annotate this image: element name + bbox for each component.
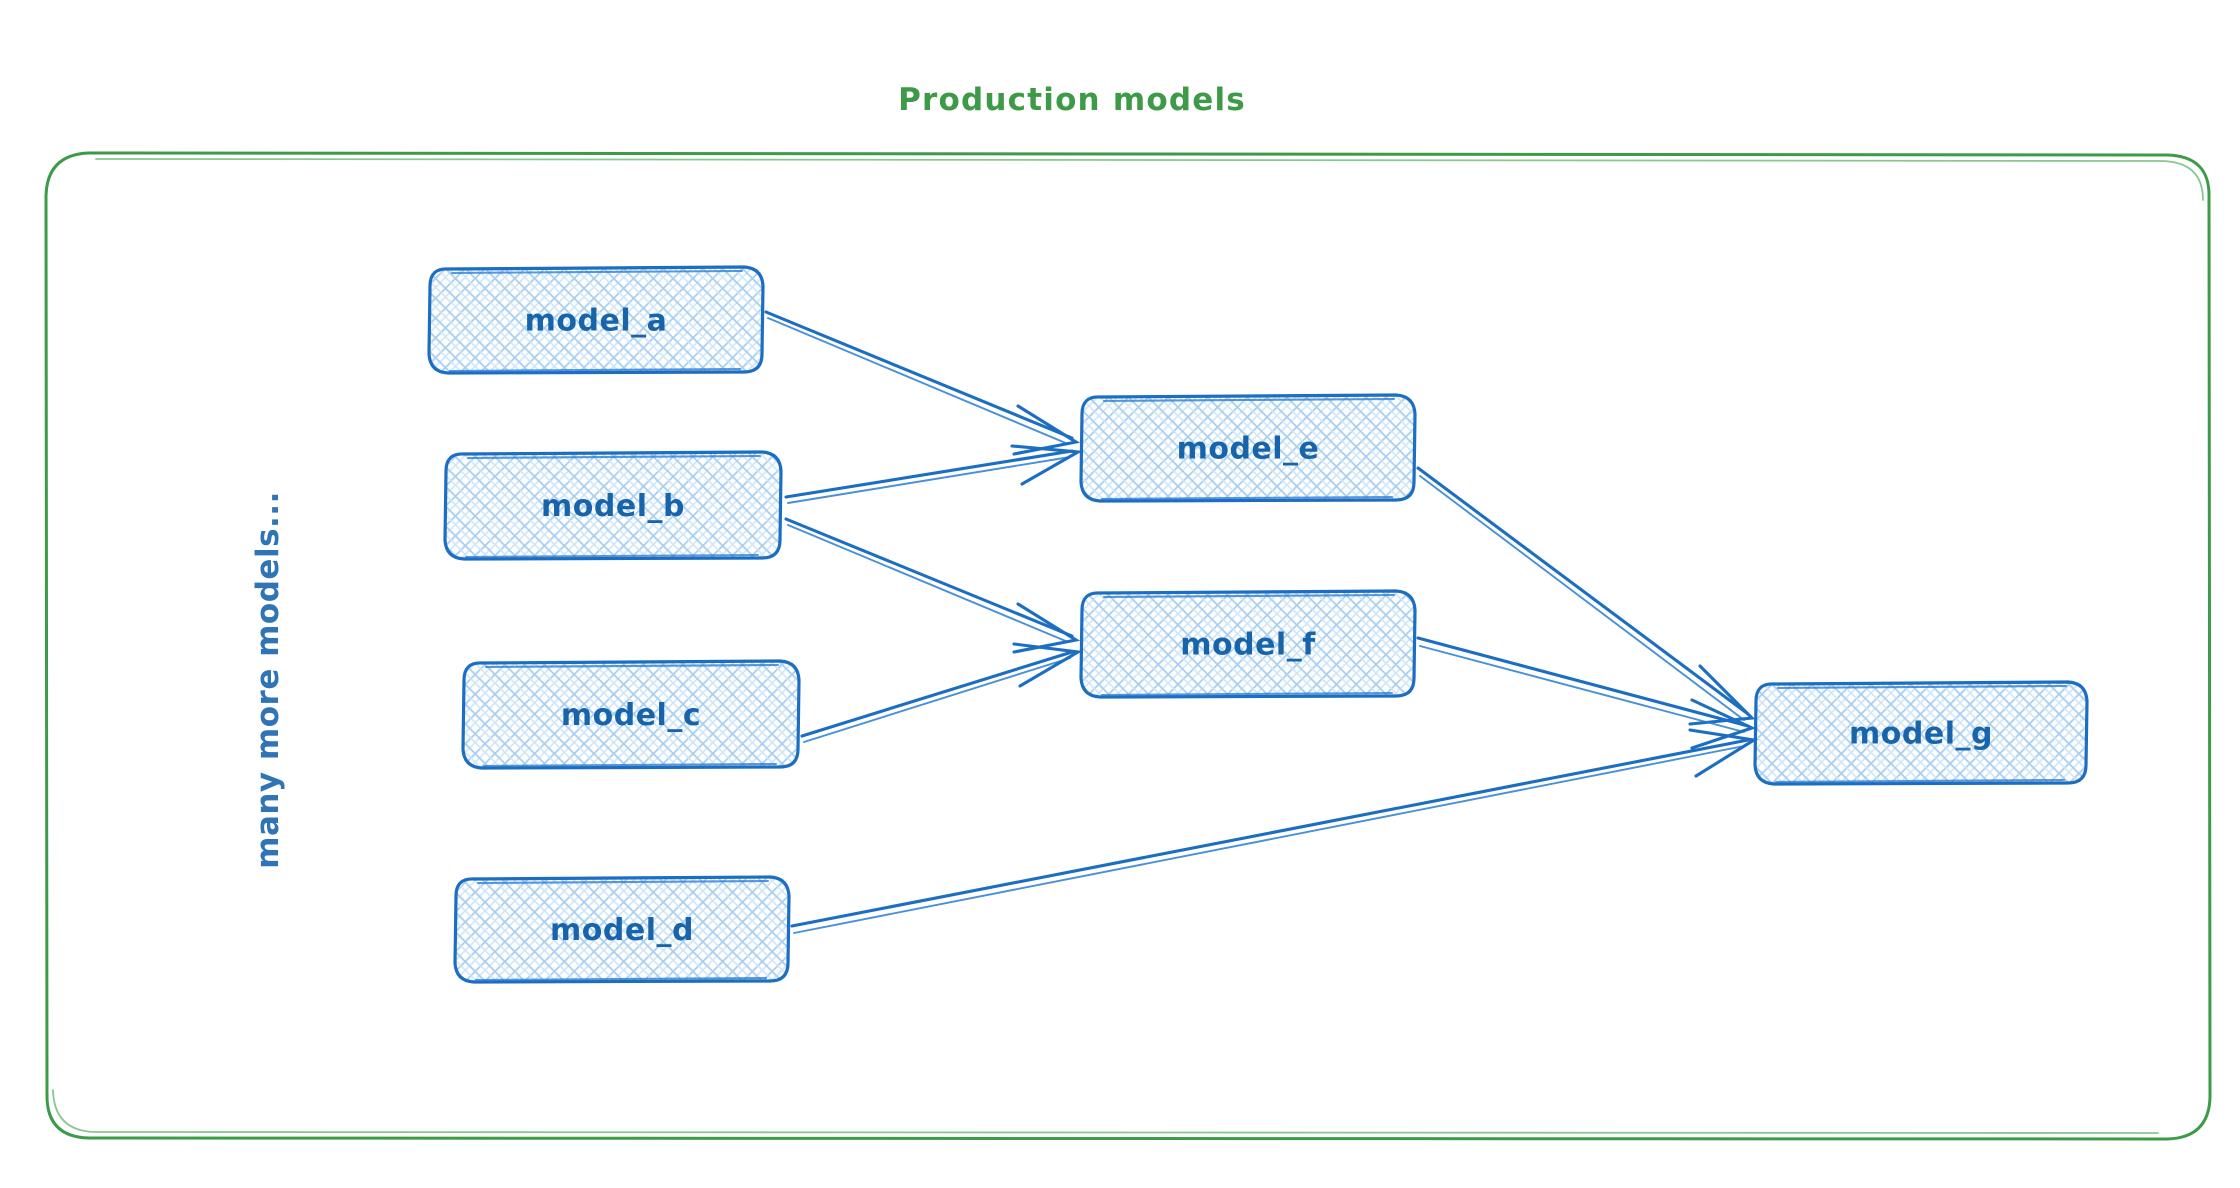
node-label-model-c: model_c bbox=[561, 698, 701, 733]
node-label-model-g: model_g bbox=[1849, 717, 1993, 752]
node-label-model-b: model_b bbox=[541, 489, 685, 524]
nodes-layer bbox=[429, 267, 2087, 982]
node-label-model-d: model_d bbox=[550, 913, 694, 948]
edge-model-a-to-model-e bbox=[766, 312, 1076, 454]
edge-model-c-to-model-f bbox=[802, 644, 1078, 742]
group-border-sketch-2 bbox=[53, 1090, 2158, 1133]
node-label-model-f: model_f bbox=[1180, 628, 1316, 663]
side-note-many-more-models: many more models... bbox=[250, 491, 286, 869]
edge-model-b-to-model-e bbox=[786, 446, 1078, 503]
diagram-svg: Production models many more models... mo… bbox=[0, 0, 2240, 1188]
edge-model-e-to-model-g bbox=[1418, 468, 1752, 724]
diagram-canvas: Production models many more models... mo… bbox=[0, 0, 2240, 1188]
edge-model-b-to-model-f bbox=[786, 519, 1076, 652]
group-border-sketch bbox=[96, 159, 2203, 200]
node-label-model-e: model_e bbox=[1177, 432, 1320, 467]
node-label-model-a: model_a bbox=[525, 304, 668, 339]
group-title: Production models bbox=[898, 82, 1246, 118]
edge-model-d-to-model-g bbox=[792, 730, 1754, 933]
